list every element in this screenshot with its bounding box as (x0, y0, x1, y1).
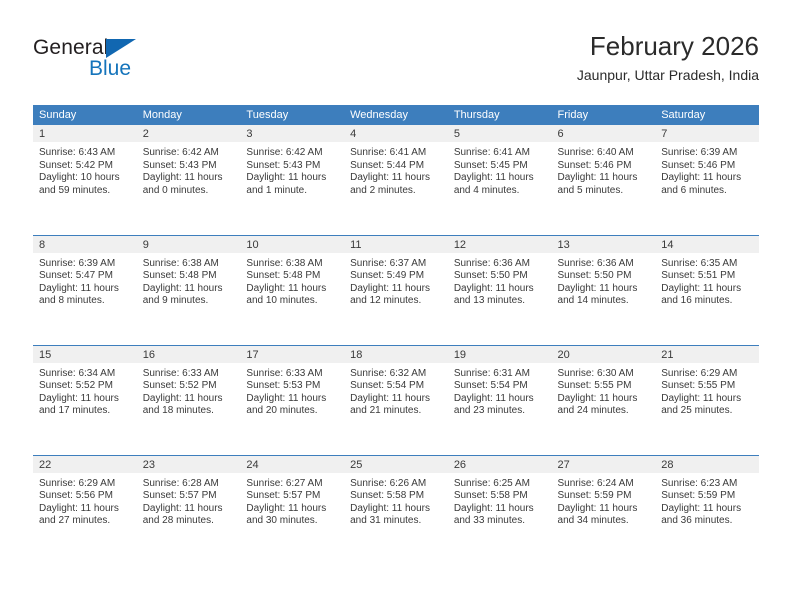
day-details: Sunrise: 6:42 AM Sunset: 5:43 PM Dayligh… (240, 142, 344, 197)
sunrise-text: Sunrise: 6:36 AM (558, 258, 650, 271)
sunrise-text: Sunrise: 6:31 AM (454, 368, 546, 381)
day-number: 6 (552, 125, 656, 142)
sunrise-text: Sunrise: 6:40 AM (558, 147, 650, 160)
title-block: February 2026 Jaunpur, Uttar Pradesh, In… (577, 30, 759, 85)
day-details: Sunrise: 6:38 AM Sunset: 5:48 PM Dayligh… (137, 253, 241, 308)
day-number: 10 (240, 236, 344, 253)
daylight-text: Daylight: 11 hours and 33 minutes. (454, 503, 546, 528)
weekday-header-friday: Friday (552, 105, 656, 125)
day-number: 27 (552, 456, 656, 473)
sunset-text: Sunset: 5:54 PM (454, 380, 546, 393)
sunset-text: Sunset: 5:56 PM (39, 490, 131, 503)
sunrise-text: Sunrise: 6:36 AM (454, 258, 546, 271)
calendar-day-cell[interactable]: 6 Sunrise: 6:40 AM Sunset: 5:46 PM Dayli… (552, 125, 656, 235)
weekday-header-sunday: Sunday (33, 105, 137, 125)
calendar-day-cell[interactable]: 16 Sunrise: 6:33 AM Sunset: 5:52 PM Dayl… (137, 345, 241, 455)
calendar-week-row: 1 Sunrise: 6:43 AM Sunset: 5:42 PM Dayli… (33, 125, 759, 235)
day-details: Sunrise: 6:35 AM Sunset: 5:51 PM Dayligh… (655, 253, 759, 308)
sunrise-text: Sunrise: 6:26 AM (350, 478, 442, 491)
sunrise-text: Sunrise: 6:32 AM (350, 368, 442, 381)
weekday-header-saturday: Saturday (655, 105, 759, 125)
logo-triangle-icon (106, 39, 136, 58)
day-details: Sunrise: 6:24 AM Sunset: 5:59 PM Dayligh… (552, 473, 656, 528)
daylight-text: Daylight: 11 hours and 25 minutes. (661, 393, 753, 418)
calendar-day-cell[interactable]: 21 Sunrise: 6:29 AM Sunset: 5:55 PM Dayl… (655, 345, 759, 455)
sunrise-text: Sunrise: 6:24 AM (558, 478, 650, 491)
daylight-text: Daylight: 11 hours and 31 minutes. (350, 503, 442, 528)
weekday-header-monday: Monday (137, 105, 241, 125)
calendar-day-cell[interactable]: 20 Sunrise: 6:30 AM Sunset: 5:55 PM Dayl… (552, 345, 656, 455)
sunset-text: Sunset: 5:47 PM (39, 270, 131, 283)
page-subtitle: Jaunpur, Uttar Pradesh, India (577, 65, 759, 85)
sunset-text: Sunset: 5:54 PM (350, 380, 442, 393)
general-blue-logo[interactable]: General Blue (33, 36, 173, 88)
calendar-day-cell[interactable]: 27 Sunrise: 6:24 AM Sunset: 5:59 PM Dayl… (552, 455, 656, 565)
calendar-table: Sunday Monday Tuesday Wednesday Thursday… (33, 105, 759, 565)
day-details: Sunrise: 6:23 AM Sunset: 5:59 PM Dayligh… (655, 473, 759, 528)
sunrise-text: Sunrise: 6:25 AM (454, 478, 546, 491)
calendar-day-cell[interactable]: 12 Sunrise: 6:36 AM Sunset: 5:50 PM Dayl… (448, 235, 552, 345)
daylight-text: Daylight: 11 hours and 18 minutes. (143, 393, 235, 418)
daylight-text: Daylight: 11 hours and 21 minutes. (350, 393, 442, 418)
day-number: 18 (344, 346, 448, 363)
daylight-text: Daylight: 11 hours and 4 minutes. (454, 172, 546, 197)
daylight-text: Daylight: 11 hours and 14 minutes. (558, 283, 650, 308)
day-details: Sunrise: 6:31 AM Sunset: 5:54 PM Dayligh… (448, 363, 552, 418)
day-details: Sunrise: 6:38 AM Sunset: 5:48 PM Dayligh… (240, 253, 344, 308)
sunrise-text: Sunrise: 6:38 AM (246, 258, 338, 271)
sunset-text: Sunset: 5:45 PM (454, 160, 546, 173)
day-details: Sunrise: 6:32 AM Sunset: 5:54 PM Dayligh… (344, 363, 448, 418)
calendar-day-cell[interactable]: 7 Sunrise: 6:39 AM Sunset: 5:46 PM Dayli… (655, 125, 759, 235)
calendar-day-cell[interactable]: 17 Sunrise: 6:33 AM Sunset: 5:53 PM Dayl… (240, 345, 344, 455)
calendar-day-cell[interactable]: 13 Sunrise: 6:36 AM Sunset: 5:50 PM Dayl… (552, 235, 656, 345)
day-details: Sunrise: 6:41 AM Sunset: 5:44 PM Dayligh… (344, 142, 448, 197)
sunrise-text: Sunrise: 6:42 AM (143, 147, 235, 160)
daylight-text: Daylight: 11 hours and 27 minutes. (39, 503, 131, 528)
sunset-text: Sunset: 5:55 PM (558, 380, 650, 393)
day-number: 4 (344, 125, 448, 142)
sunset-text: Sunset: 5:58 PM (350, 490, 442, 503)
calendar-day-cell[interactable]: 18 Sunrise: 6:32 AM Sunset: 5:54 PM Dayl… (344, 345, 448, 455)
day-number: 23 (137, 456, 241, 473)
calendar-day-cell[interactable]: 26 Sunrise: 6:25 AM Sunset: 5:58 PM Dayl… (448, 455, 552, 565)
day-details: Sunrise: 6:30 AM Sunset: 5:55 PM Dayligh… (552, 363, 656, 418)
daylight-text: Daylight: 11 hours and 5 minutes. (558, 172, 650, 197)
calendar-day-cell[interactable]: 5 Sunrise: 6:41 AM Sunset: 5:45 PM Dayli… (448, 125, 552, 235)
sunrise-text: Sunrise: 6:37 AM (350, 258, 442, 271)
logo-text-blue: Blue (89, 57, 131, 81)
daylight-text: Daylight: 11 hours and 30 minutes. (246, 503, 338, 528)
day-details: Sunrise: 6:36 AM Sunset: 5:50 PM Dayligh… (448, 253, 552, 308)
sunset-text: Sunset: 5:46 PM (661, 160, 753, 173)
daylight-text: Daylight: 11 hours and 13 minutes. (454, 283, 546, 308)
page-title: February 2026 (577, 30, 759, 62)
sunrise-text: Sunrise: 6:34 AM (39, 368, 131, 381)
sunset-text: Sunset: 5:46 PM (558, 160, 650, 173)
sunrise-text: Sunrise: 6:39 AM (661, 147, 753, 160)
day-number: 21 (655, 346, 759, 363)
day-number: 16 (137, 346, 241, 363)
sunset-text: Sunset: 5:55 PM (661, 380, 753, 393)
sunrise-text: Sunrise: 6:27 AM (246, 478, 338, 491)
sunrise-text: Sunrise: 6:30 AM (558, 368, 650, 381)
calendar-day-cell[interactable]: 4 Sunrise: 6:41 AM Sunset: 5:44 PM Dayli… (344, 125, 448, 235)
day-details: Sunrise: 6:41 AM Sunset: 5:45 PM Dayligh… (448, 142, 552, 197)
calendar-week-row: 15 Sunrise: 6:34 AM Sunset: 5:52 PM Dayl… (33, 345, 759, 455)
calendar-day-cell[interactable]: 8 Sunrise: 6:39 AM Sunset: 5:47 PM Dayli… (33, 235, 137, 345)
daylight-text: Daylight: 11 hours and 10 minutes. (246, 283, 338, 308)
calendar-day-cell[interactable]: 9 Sunrise: 6:38 AM Sunset: 5:48 PM Dayli… (137, 235, 241, 345)
day-number: 11 (344, 236, 448, 253)
calendar-day-cell[interactable]: 15 Sunrise: 6:34 AM Sunset: 5:52 PM Dayl… (33, 345, 137, 455)
sunset-text: Sunset: 5:44 PM (350, 160, 442, 173)
day-number: 8 (33, 236, 137, 253)
daylight-text: Daylight: 11 hours and 23 minutes. (454, 393, 546, 418)
sunset-text: Sunset: 5:57 PM (246, 490, 338, 503)
day-details: Sunrise: 6:40 AM Sunset: 5:46 PM Dayligh… (552, 142, 656, 197)
calendar-header-row: Sunday Monday Tuesday Wednesday Thursday… (33, 105, 759, 125)
sunrise-text: Sunrise: 6:43 AM (39, 147, 131, 160)
calendar-day-cell[interactable]: 1 Sunrise: 6:43 AM Sunset: 5:42 PM Dayli… (33, 125, 137, 235)
daylight-text: Daylight: 11 hours and 20 minutes. (246, 393, 338, 418)
daylight-text: Daylight: 11 hours and 34 minutes. (558, 503, 650, 528)
sunrise-text: Sunrise: 6:41 AM (350, 147, 442, 160)
daylight-text: Daylight: 11 hours and 9 minutes. (143, 283, 235, 308)
sunrise-text: Sunrise: 6:42 AM (246, 147, 338, 160)
day-number: 13 (552, 236, 656, 253)
weekday-header-thursday: Thursday (448, 105, 552, 125)
calendar-day-cell[interactable]: 11 Sunrise: 6:37 AM Sunset: 5:49 PM Dayl… (344, 235, 448, 345)
calendar-day-cell[interactable]: 10 Sunrise: 6:38 AM Sunset: 5:48 PM Dayl… (240, 235, 344, 345)
calendar-day-cell[interactable]: 14 Sunrise: 6:35 AM Sunset: 5:51 PM Dayl… (655, 235, 759, 345)
day-number: 12 (448, 236, 552, 253)
day-number: 5 (448, 125, 552, 142)
day-details: Sunrise: 6:36 AM Sunset: 5:50 PM Dayligh… (552, 253, 656, 308)
sunrise-text: Sunrise: 6:33 AM (143, 368, 235, 381)
calendar-week-row: 8 Sunrise: 6:39 AM Sunset: 5:47 PM Dayli… (33, 235, 759, 345)
calendar-week-row: 22 Sunrise: 6:29 AM Sunset: 5:56 PM Dayl… (33, 455, 759, 565)
day-details: Sunrise: 6:33 AM Sunset: 5:52 PM Dayligh… (137, 363, 241, 418)
daylight-text: Daylight: 11 hours and 24 minutes. (558, 393, 650, 418)
day-number: 17 (240, 346, 344, 363)
sunset-text: Sunset: 5:49 PM (350, 270, 442, 283)
calendar-body: 1 Sunrise: 6:43 AM Sunset: 5:42 PM Dayli… (33, 125, 759, 565)
calendar-day-cell[interactable]: 22 Sunrise: 6:29 AM Sunset: 5:56 PM Dayl… (33, 455, 137, 565)
day-number: 1 (33, 125, 137, 142)
sunset-text: Sunset: 5:43 PM (143, 160, 235, 173)
day-number: 20 (552, 346, 656, 363)
calendar-day-cell[interactable]: 19 Sunrise: 6:31 AM Sunset: 5:54 PM Dayl… (448, 345, 552, 455)
sunset-text: Sunset: 5:53 PM (246, 380, 338, 393)
daylight-text: Daylight: 11 hours and 17 minutes. (39, 393, 131, 418)
day-details: Sunrise: 6:28 AM Sunset: 5:57 PM Dayligh… (137, 473, 241, 528)
day-details: Sunrise: 6:37 AM Sunset: 5:49 PM Dayligh… (344, 253, 448, 308)
daylight-text: Daylight: 11 hours and 2 minutes. (350, 172, 442, 197)
daylight-text: Daylight: 11 hours and 6 minutes. (661, 172, 753, 197)
calendar-day-cell[interactable]: 25 Sunrise: 6:26 AM Sunset: 5:58 PM Dayl… (344, 455, 448, 565)
sunset-text: Sunset: 5:59 PM (558, 490, 650, 503)
sunset-text: Sunset: 5:48 PM (143, 270, 235, 283)
calendar-day-cell[interactable]: 24 Sunrise: 6:27 AM Sunset: 5:57 PM Dayl… (240, 455, 344, 565)
sunset-text: Sunset: 5:52 PM (143, 380, 235, 393)
weekday-header-tuesday: Tuesday (240, 105, 344, 125)
sunset-text: Sunset: 5:59 PM (661, 490, 753, 503)
day-details: Sunrise: 6:43 AM Sunset: 5:42 PM Dayligh… (33, 142, 137, 197)
sunrise-text: Sunrise: 6:38 AM (143, 258, 235, 271)
sunset-text: Sunset: 5:50 PM (454, 270, 546, 283)
sunset-text: Sunset: 5:42 PM (39, 160, 131, 173)
day-number: 15 (33, 346, 137, 363)
sunrise-text: Sunrise: 6:28 AM (143, 478, 235, 491)
day-details: Sunrise: 6:29 AM Sunset: 5:56 PM Dayligh… (33, 473, 137, 528)
day-number: 7 (655, 125, 759, 142)
day-details: Sunrise: 6:34 AM Sunset: 5:52 PM Dayligh… (33, 363, 137, 418)
day-details: Sunrise: 6:33 AM Sunset: 5:53 PM Dayligh… (240, 363, 344, 418)
sunset-text: Sunset: 5:52 PM (39, 380, 131, 393)
daylight-text: Daylight: 10 hours and 59 minutes. (39, 172, 131, 197)
daylight-text: Daylight: 11 hours and 16 minutes. (661, 283, 753, 308)
sunset-text: Sunset: 5:48 PM (246, 270, 338, 283)
daylight-text: Daylight: 11 hours and 0 minutes. (143, 172, 235, 197)
calendar-day-cell[interactable]: 2 Sunrise: 6:42 AM Sunset: 5:43 PM Dayli… (137, 125, 241, 235)
daylight-text: Daylight: 11 hours and 8 minutes. (39, 283, 131, 308)
page-header: General Blue February 2026 Jaunpur, Utta… (33, 30, 759, 92)
day-number: 25 (344, 456, 448, 473)
sunset-text: Sunset: 5:51 PM (661, 270, 753, 283)
sunrise-text: Sunrise: 6:23 AM (661, 478, 753, 491)
daylight-text: Daylight: 11 hours and 36 minutes. (661, 503, 753, 528)
sunset-text: Sunset: 5:57 PM (143, 490, 235, 503)
sunrise-text: Sunrise: 6:33 AM (246, 368, 338, 381)
sunrise-text: Sunrise: 6:29 AM (39, 478, 131, 491)
sunset-text: Sunset: 5:43 PM (246, 160, 338, 173)
calendar-page: General Blue February 2026 Jaunpur, Utta… (0, 0, 792, 612)
day-number: 19 (448, 346, 552, 363)
sunrise-text: Sunrise: 6:35 AM (661, 258, 753, 271)
daylight-text: Daylight: 11 hours and 28 minutes. (143, 503, 235, 528)
daylight-text: Daylight: 11 hours and 12 minutes. (350, 283, 442, 308)
sunset-text: Sunset: 5:58 PM (454, 490, 546, 503)
sunrise-text: Sunrise: 6:41 AM (454, 147, 546, 160)
day-details: Sunrise: 6:39 AM Sunset: 5:47 PM Dayligh… (33, 253, 137, 308)
day-details: Sunrise: 6:27 AM Sunset: 5:57 PM Dayligh… (240, 473, 344, 528)
day-details: Sunrise: 6:42 AM Sunset: 5:43 PM Dayligh… (137, 142, 241, 197)
sunset-text: Sunset: 5:50 PM (558, 270, 650, 283)
calendar-day-cell[interactable]: 3 Sunrise: 6:42 AM Sunset: 5:43 PM Dayli… (240, 125, 344, 235)
daylight-text: Daylight: 11 hours and 1 minute. (246, 172, 338, 197)
day-number: 9 (137, 236, 241, 253)
day-details: Sunrise: 6:39 AM Sunset: 5:46 PM Dayligh… (655, 142, 759, 197)
calendar-day-cell[interactable]: 28 Sunrise: 6:23 AM Sunset: 5:59 PM Dayl… (655, 455, 759, 565)
sunrise-text: Sunrise: 6:39 AM (39, 258, 131, 271)
day-number: 2 (137, 125, 241, 142)
day-details: Sunrise: 6:26 AM Sunset: 5:58 PM Dayligh… (344, 473, 448, 528)
day-number: 14 (655, 236, 759, 253)
day-number: 26 (448, 456, 552, 473)
day-number: 24 (240, 456, 344, 473)
day-number: 28 (655, 456, 759, 473)
day-number: 3 (240, 125, 344, 142)
day-number: 22 (33, 456, 137, 473)
weekday-header-wednesday: Wednesday (344, 105, 448, 125)
sunrise-text: Sunrise: 6:29 AM (661, 368, 753, 381)
calendar-day-cell[interactable]: 23 Sunrise: 6:28 AM Sunset: 5:57 PM Dayl… (137, 455, 241, 565)
day-details: Sunrise: 6:29 AM Sunset: 5:55 PM Dayligh… (655, 363, 759, 418)
day-details: Sunrise: 6:25 AM Sunset: 5:58 PM Dayligh… (448, 473, 552, 528)
